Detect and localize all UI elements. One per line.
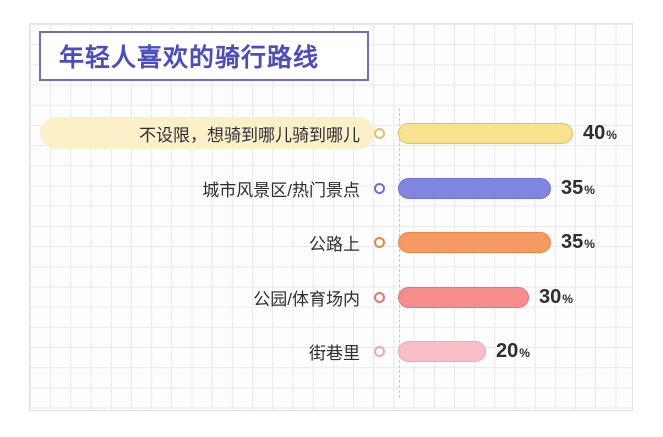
bar (398, 341, 486, 362)
bar-chart: 不设限，想骑到哪儿骑到哪儿 40% 城市风景区/热门景点 35% 公路上 (29, 108, 633, 398)
value-label: 35% (561, 231, 595, 254)
marker-dot-icon (374, 183, 385, 194)
category-label-zone: 公路上 (29, 221, 374, 263)
value-label: 35% (561, 177, 595, 200)
value-label: 30% (539, 286, 573, 309)
category-label-zone: 城市风景区/热门景点 (29, 167, 374, 209)
marker-dot-icon (374, 346, 385, 357)
category-label-zone: 街巷里 (29, 330, 374, 372)
value-label: 40% (583, 122, 617, 145)
marker-dot-icon (374, 292, 385, 303)
chart-row[interactable]: 不设限，想骑到哪儿骑到哪儿 40% (29, 112, 633, 154)
infographic-page: 年轻人喜欢的骑行路线 不设限，想骑到哪儿骑到哪儿 40% 城市风景区/热门景点 (0, 0, 663, 437)
bar-wrap: 35% (398, 167, 633, 209)
chart-row[interactable]: 公园/体育场内 30% (29, 276, 633, 318)
category-label: 公园/体育场内 (253, 285, 360, 310)
category-label: 公路上 (309, 230, 360, 255)
bar-wrap: 40% (398, 112, 633, 154)
category-label: 不设限，想骑到哪儿骑到哪儿 (139, 121, 360, 146)
chart-row[interactable]: 城市风景区/热门景点 35% (29, 167, 633, 209)
category-label-zone: 公园/体育场内 (29, 276, 374, 318)
category-label: 城市风景区/热门景点 (202, 176, 360, 201)
marker-dot-icon (374, 237, 385, 248)
category-label: 街巷里 (309, 339, 360, 364)
bar (398, 287, 529, 308)
category-label-zone: 不设限，想骑到哪儿骑到哪儿 (29, 112, 374, 154)
bar-wrap: 35% (398, 221, 633, 263)
bar (398, 232, 551, 253)
bar (398, 123, 573, 144)
chart-row[interactable]: 公路上 35% (29, 221, 633, 263)
bar-wrap: 20% (398, 330, 633, 372)
bar (398, 178, 551, 199)
chart-title-box: 年轻人喜欢的骑行路线 (39, 31, 369, 81)
value-label: 20% (496, 340, 530, 363)
bar-wrap: 30% (398, 276, 633, 318)
chart-row[interactable]: 街巷里 20% (29, 330, 633, 372)
page-title: 年轻人喜欢的骑行路线 (59, 38, 319, 74)
marker-dot-icon (374, 128, 385, 139)
